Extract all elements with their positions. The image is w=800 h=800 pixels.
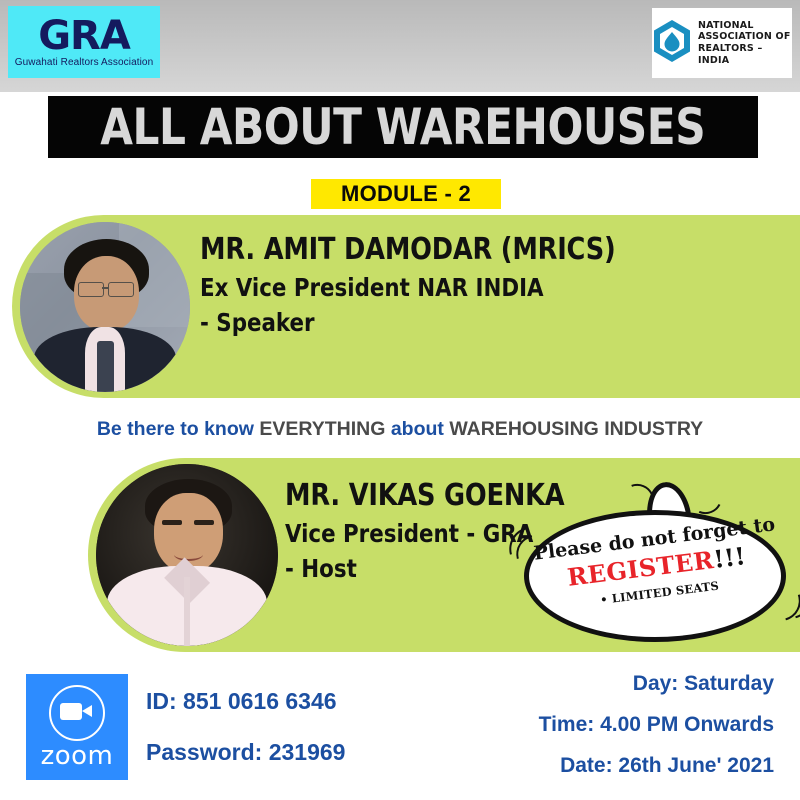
meeting-id: ID: 851 0616 6346 bbox=[146, 688, 345, 715]
speaker-1-role: Ex Vice President NAR INDIA bbox=[200, 273, 616, 302]
nar-india-logo-text: NATIONAL ASSOCIATION OF REALTORS – INDIA bbox=[698, 20, 792, 66]
tagline-part-1: Be there to know bbox=[97, 418, 260, 440]
meeting-password: Password: 231969 bbox=[146, 739, 345, 766]
tagline: Be there to know EVERYTHING about WAREHO… bbox=[0, 418, 800, 441]
register-speech-bubble: Please do not forget to REGISTER!!! • LI… bbox=[518, 474, 800, 652]
bubble-exclamations: !!! bbox=[712, 541, 747, 574]
warehouse-webinar-flyer: GRA Guwahati Realtors Association NATION… bbox=[0, 0, 800, 800]
nar-logo-line-1: NATIONAL bbox=[698, 20, 792, 32]
speaker-1-tag: - Speaker bbox=[200, 308, 616, 337]
tagline-part-2: EVERYTHING bbox=[259, 418, 390, 440]
event-schedule: Day: Saturday Time: 4.00 PM Onwards Date… bbox=[539, 672, 774, 795]
speaker-photo-1 bbox=[20, 222, 190, 392]
video-camera-icon bbox=[49, 685, 105, 741]
meeting-credentials: ID: 851 0616 6346 Password: 231969 bbox=[146, 688, 345, 790]
nar-logo-line-2: ASSOCIATION OF bbox=[698, 31, 792, 43]
main-title-bar: ALL ABOUT WAREHOUSES bbox=[48, 96, 758, 158]
gra-logo: GRA Guwahati Realtors Association bbox=[8, 6, 160, 78]
speaker-info-1: MR. AMIT DAMODAR (MRICS) Ex Vice Preside… bbox=[200, 232, 637, 337]
speaker-1-name: MR. AMIT DAMODAR (MRICS) bbox=[200, 232, 616, 267]
speaker-photo-2 bbox=[96, 464, 278, 646]
nar-india-logo: NATIONAL ASSOCIATION OF REALTORS – INDIA bbox=[652, 8, 792, 78]
module-badge: MODULE - 2 bbox=[308, 176, 504, 212]
main-title: ALL ABOUT WAREHOUSES bbox=[101, 98, 706, 156]
hexagon-droplet-icon bbox=[652, 19, 692, 68]
zoom-wordmark: zoom bbox=[41, 743, 114, 769]
tagline-part-4: WAREHOUSING INDUSTRY bbox=[449, 418, 703, 440]
zoom-logo: zoom bbox=[26, 674, 128, 780]
nar-logo-line-3: REALTORS – INDIA bbox=[698, 43, 792, 66]
tagline-part-3: about bbox=[391, 418, 450, 440]
event-date: Date: 26th June' 2021 bbox=[539, 754, 774, 778]
gra-logo-subtitle: Guwahati Realtors Association bbox=[15, 57, 154, 68]
event-day: Day: Saturday bbox=[539, 672, 774, 696]
event-time: Time: 4.00 PM Onwards bbox=[539, 713, 774, 737]
module-badge-label: MODULE - 2 bbox=[341, 181, 471, 207]
gra-logo-mark: GRA bbox=[38, 17, 130, 55]
